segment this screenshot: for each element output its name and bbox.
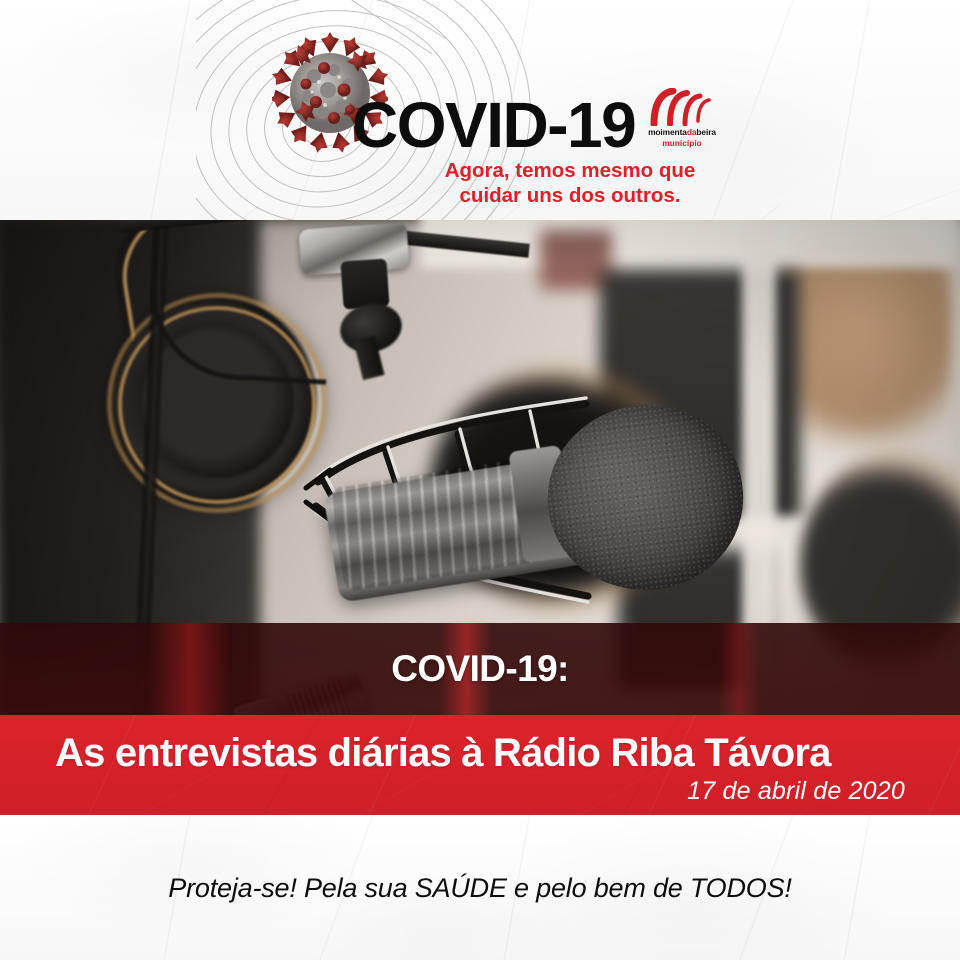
header-section: COVID-19 Agora, temos mesmo que cuidar u… <box>0 0 960 220</box>
headline-text: As entrevistas diárias à Rádio Riba Távo… <box>55 731 915 776</box>
municipality-logo-subtitle: município <box>636 138 728 148</box>
headline-band: As entrevistas diárias à Rádio Riba Távo… <box>0 715 960 815</box>
eyebrow-label: COVID-19: <box>391 648 569 690</box>
header-tagline: Agora, temos mesmo que cuidar uns dos ou… <box>440 158 700 208</box>
logo-name-secondary: beira <box>696 127 716 137</box>
footer-message: Proteja-se! Pela sua SAÚDE e pelo bem de… <box>0 873 960 904</box>
band-light-streak-3 <box>718 623 760 715</box>
eyebrow-band: COVID-19: <box>0 623 960 715</box>
poster-canvas: COVID-19 Agora, temos mesmo que cuidar u… <box>0 0 960 960</box>
municipality-logo: moimentadabeira município <box>636 88 728 150</box>
logo-name-connector: da <box>687 127 697 137</box>
moimenta-arcs-logo-icon <box>648 88 712 126</box>
municipality-logo-name: moimentadabeira <box>636 127 728 137</box>
page-title: COVID-19 <box>352 93 635 157</box>
band-light-streak-1 <box>150 623 230 715</box>
event-date: 17 de abril de 2020 <box>687 777 905 806</box>
logo-name-primary: moimenta <box>648 127 687 137</box>
